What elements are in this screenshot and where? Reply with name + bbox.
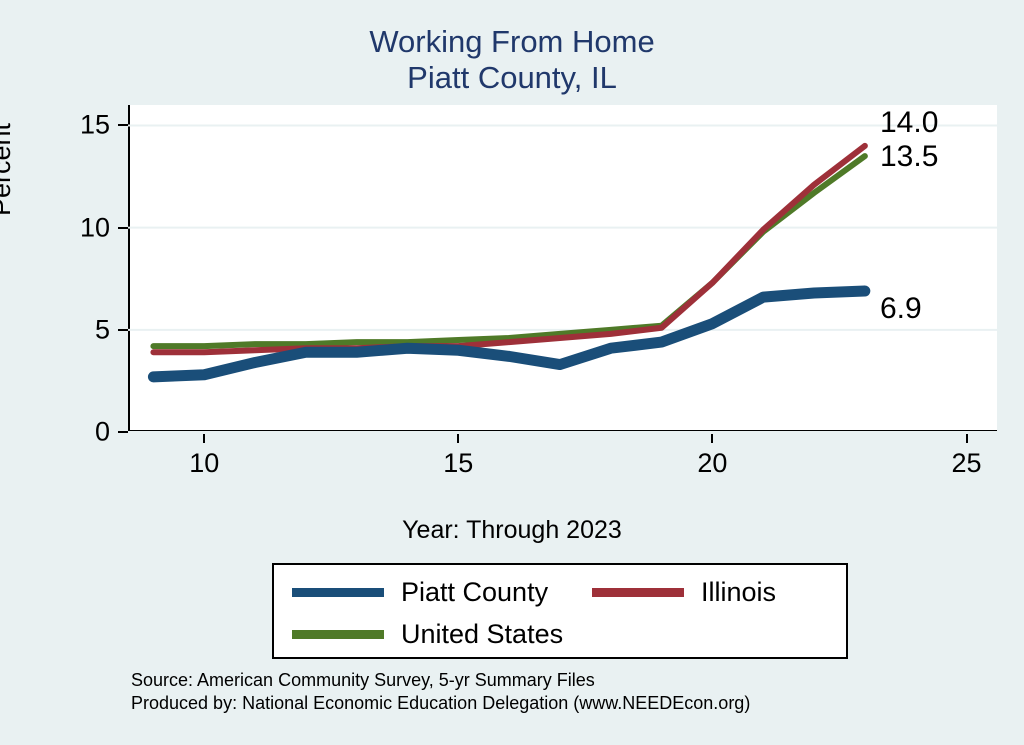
legend-row-2: United States: [274, 613, 846, 655]
chart-legend: Piatt County Illinois United States: [272, 563, 848, 659]
x-tick-mark: [203, 434, 205, 443]
plot-area: [128, 105, 997, 432]
legend-item-illinois[interactable]: Illinois: [592, 571, 776, 613]
series-line-united-states: [153, 156, 864, 346]
legend-swatch-piatt-county: [292, 588, 384, 597]
legend-label-piatt-county: Piatt County: [401, 577, 548, 608]
x-tick-mark: [966, 434, 968, 443]
chart-footnote: Source: American Community Survey, 5-yr …: [131, 669, 750, 715]
x-tick-mark: [457, 434, 459, 443]
chart-title: Working From Home Piatt County, IL: [0, 24, 1024, 96]
end-label-piatt-county: 6.9: [880, 292, 922, 326]
x-tick-label: 25: [951, 448, 981, 479]
y-tick-label: 15: [52, 110, 110, 141]
legend-item-piatt-county[interactable]: Piatt County: [274, 571, 592, 613]
y-axis-label: Percent: [0, 123, 17, 216]
x-axis-label: Year: Through 2023: [0, 516, 1024, 545]
y-tick-label: 0: [52, 417, 110, 448]
y-tick-mark: [118, 431, 128, 433]
series-line-piatt-county: [153, 291, 864, 377]
y-tick-mark: [118, 329, 128, 331]
chart-figure: Working From Home Piatt County, IL Perce…: [0, 0, 1024, 745]
y-tick-mark: [118, 124, 128, 126]
end-label-united-states: 13.5: [880, 140, 938, 174]
legend-row-1: Piatt County Illinois: [274, 571, 846, 613]
footnote-producer: Produced by: National Economic Education…: [131, 692, 750, 715]
x-tick-label: 10: [189, 448, 219, 479]
legend-label-united-states: United States: [401, 619, 563, 650]
y-tick-label: 10: [52, 212, 110, 243]
legend-label-illinois: Illinois: [701, 577, 776, 608]
series-canvas: [128, 105, 997, 432]
chart-title-line-1: Working From Home: [0, 24, 1024, 60]
end-label-illinois: 14.0: [880, 106, 938, 140]
x-tick-label: 20: [697, 448, 727, 479]
footnote-source: Source: American Community Survey, 5-yr …: [131, 669, 750, 692]
x-tick-label: 15: [443, 448, 473, 479]
chart-title-line-2: Piatt County, IL: [0, 60, 1024, 96]
y-tick-mark: [118, 227, 128, 229]
legend-swatch-united-states: [292, 630, 384, 639]
y-tick-label: 5: [52, 314, 110, 345]
x-tick-mark: [711, 434, 713, 443]
series-line-illinois: [153, 146, 864, 352]
legend-item-united-states[interactable]: United States: [274, 613, 592, 655]
legend-swatch-illinois: [592, 588, 684, 597]
